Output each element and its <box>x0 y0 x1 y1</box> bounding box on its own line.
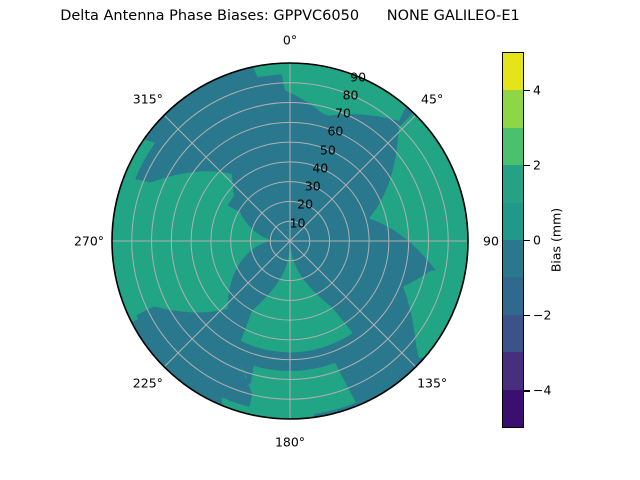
data-region-positive-south2 <box>248 364 355 415</box>
radial-tick-label-70: 70 <box>335 106 351 121</box>
radial-tick-label-20: 20 <box>297 197 313 212</box>
colorbar-band <box>503 240 523 277</box>
colorbar-tick-mark <box>524 240 530 241</box>
radial-tick-label-90: 90 <box>350 69 366 84</box>
colorbar-tick-mark <box>524 90 530 91</box>
angular-tick-label-45: 45° <box>421 91 443 106</box>
colorbar-tick-label: 0 <box>533 233 541 248</box>
radial-tick-label-60: 60 <box>327 124 343 139</box>
colorbar-band <box>503 90 523 127</box>
colorbar-gradient <box>502 52 524 428</box>
radial-tick-label-40: 40 <box>312 160 328 175</box>
radial-tick-label-50: 50 <box>320 142 336 157</box>
angular-tick-label-0: 0° <box>283 33 297 48</box>
colorbar-band <box>503 53 523 90</box>
angular-tick-label-270: 270° <box>74 234 104 249</box>
polar-grid <box>112 63 468 419</box>
angular-tick-label-225: 225° <box>133 376 163 391</box>
figure-canvas: Delta Antenna Phase Biases: GPPVC6050 NO… <box>0 0 640 480</box>
colorbar-band <box>503 165 523 202</box>
radial-tick-label-10: 10 <box>290 215 306 230</box>
colorbar-tick-label: −4 <box>533 383 551 398</box>
colorbar[interactable] <box>502 52 524 428</box>
colorbar-tick-label: 4 <box>533 82 541 97</box>
colorbar-band <box>503 277 523 314</box>
colorbar-tick-label: 2 <box>533 157 541 172</box>
angular-tick-label-315: 315° <box>133 91 163 106</box>
radial-tick-label-80: 80 <box>343 87 359 102</box>
angular-tick-label-135: 135° <box>417 376 447 391</box>
colorbar-band <box>503 315 523 352</box>
colorbar-band <box>503 390 523 427</box>
angular-tick-label-90: 90 <box>483 234 499 249</box>
colorbar-axis-label: Bias (mm) <box>549 208 564 272</box>
polar-axes: 0°45°90135°180°225°270°315°1020304050607… <box>0 0 640 480</box>
colorbar-band <box>503 352 523 389</box>
angular-tick-label-180: 180° <box>275 435 305 450</box>
colorbar-tick-mark <box>524 315 530 316</box>
colorbar-tick-mark <box>524 165 530 166</box>
colorbar-tick-label: −2 <box>533 308 551 323</box>
colorbar-tick-mark <box>524 390 530 391</box>
colorbar-band <box>503 128 523 165</box>
radial-tick-label-30: 30 <box>305 179 321 194</box>
colorbar-band <box>503 203 523 240</box>
